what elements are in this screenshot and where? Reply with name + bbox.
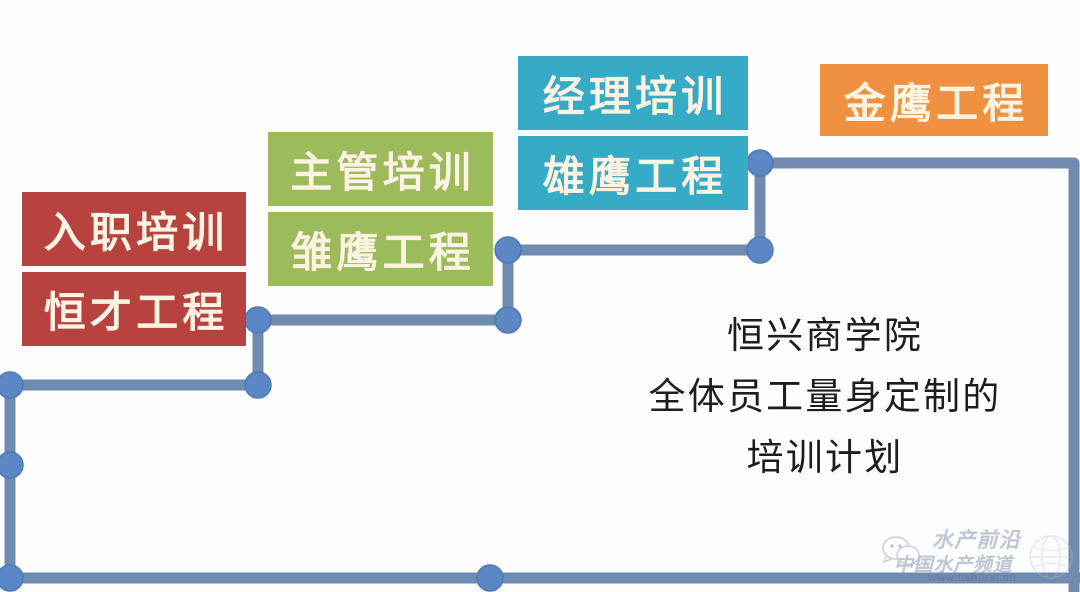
- diagram-canvas: 入职培训 恒才工程 主管培训 雏鹰工程 经理培训 雄鹰工程 金鹰工程 恒兴商学院…: [0, 0, 1080, 592]
- node-step2-top: [495, 237, 521, 263]
- watermark-line-2: 中国水产频道: [894, 550, 1013, 577]
- watermark-line-1: 水产前沿: [932, 524, 1021, 554]
- step-block-onboarding-training[interactable]: 入职培训: [22, 192, 246, 266]
- node-step2-bottom: [495, 307, 521, 333]
- caption-line-2: 全体员工量身定制的: [590, 366, 1060, 427]
- step-block-fledgling-eagle-project[interactable]: 雏鹰工程: [268, 212, 493, 286]
- node-step3-bottom: [747, 237, 773, 263]
- caption-line-3: 培训计划: [590, 427, 1060, 488]
- node-bottom-middle: [477, 565, 503, 591]
- wechat-logo-icon: [882, 534, 922, 568]
- node-step1-top: [245, 307, 271, 333]
- node-left-middle: [0, 452, 23, 478]
- watermark-line-3: www.fishfirst.cn: [928, 572, 1016, 584]
- caption-line-1: 恒兴商学院: [590, 305, 1060, 366]
- node-step1-bottom: [245, 372, 271, 398]
- center-caption: 恒兴商学院 全体员工量身定制的 培训计划: [590, 305, 1060, 488]
- step-block-hengcai-project[interactable]: 恒才工程: [22, 272, 246, 346]
- step-block-golden-eagle-project[interactable]: 金鹰工程: [820, 64, 1048, 136]
- globe-icon: [1028, 534, 1074, 580]
- node-left-upper: [0, 372, 23, 398]
- node-step3-top: [747, 150, 773, 176]
- step-block-supervisor-training[interactable]: 主管培训: [268, 132, 493, 206]
- step-block-manager-training[interactable]: 经理培训: [518, 56, 748, 130]
- step-block-eagle-project[interactable]: 雄鹰工程: [518, 136, 748, 210]
- watermark: 水产前沿 中国水产频道 www.fishfirst.cn: [880, 522, 1076, 588]
- node-left-bottom: [0, 565, 23, 591]
